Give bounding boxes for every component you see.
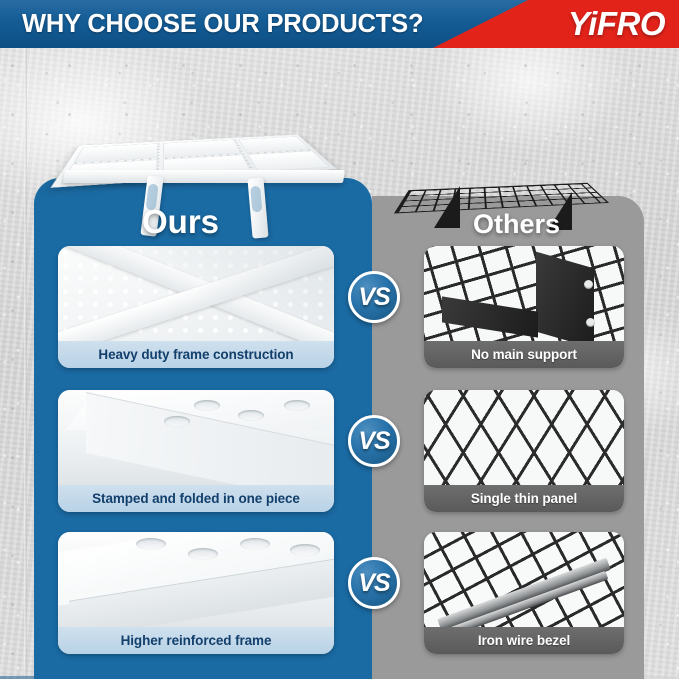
hero-image-ours bbox=[52, 78, 352, 216]
rack-front-edge bbox=[63, 170, 345, 183]
vs-badge-2: VS bbox=[348, 415, 400, 467]
product-photo-others-1 bbox=[424, 246, 624, 341]
page-title: WHY CHOOSE OUR PRODUCTS? bbox=[22, 0, 423, 48]
wire-shelf-bracket bbox=[434, 186, 460, 228]
infographic-page: WHY CHOOSE OUR PRODUCTS? YiFRO Ours Othe… bbox=[0, 0, 679, 679]
product-photo-ours-1 bbox=[58, 246, 334, 341]
comparison-card-others-2[interactable]: Single thin panel bbox=[424, 390, 624, 512]
comparison-card-others-1[interactable]: No main support bbox=[424, 246, 624, 368]
rack-rib bbox=[247, 151, 330, 172]
comparison-card-others-3[interactable]: Iron wire bezel bbox=[424, 532, 624, 654]
product-photo-others-2 bbox=[424, 390, 624, 485]
header-banner: WHY CHOOSE OUR PRODUCTS? YiFRO bbox=[0, 0, 679, 48]
vs-badge-1: VS bbox=[348, 271, 400, 323]
wall-seam-line bbox=[24, 48, 27, 679]
product-photo-others-3 bbox=[424, 532, 624, 627]
comparison-card-ours-3[interactable]: Higher reinforced frame bbox=[58, 532, 334, 654]
caption-others-1: No main support bbox=[424, 341, 624, 368]
caption-ours-3: Higher reinforced frame bbox=[58, 627, 334, 654]
product-photo-ours-3 bbox=[58, 532, 334, 627]
caption-ours-2: Stamped and folded in one piece bbox=[58, 485, 334, 512]
caption-others-2: Single thin panel bbox=[424, 485, 624, 512]
comparison-card-ours-2[interactable]: Stamped and folded in one piece bbox=[58, 390, 334, 512]
product-photo-ours-2 bbox=[58, 390, 334, 485]
caption-ours-1: Heavy duty frame construction bbox=[58, 341, 334, 368]
caption-others-3: Iron wire bezel bbox=[424, 627, 624, 654]
column-heading-others: Others bbox=[473, 209, 560, 240]
vs-badge-3: VS bbox=[348, 557, 400, 609]
brand-logo: YiFRO bbox=[568, 0, 665, 48]
comparison-card-ours-1[interactable]: Heavy duty frame construction bbox=[58, 246, 334, 368]
column-heading-ours: Ours bbox=[142, 203, 219, 241]
